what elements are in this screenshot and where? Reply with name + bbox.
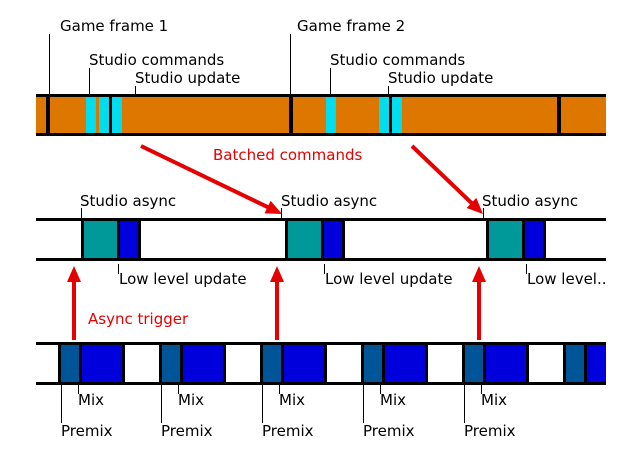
segment-premix	[566, 345, 584, 382]
leader-line-studio-update-1	[135, 86, 136, 94]
async-arrow-1-head	[67, 266, 81, 282]
segment-premix	[364, 345, 382, 382]
segment-mix	[587, 345, 606, 382]
segment-idle	[125, 345, 159, 382]
game-thread-row-track	[36, 94, 606, 136]
label-premix-1: Premix	[61, 423, 113, 439]
segment-mix	[82, 345, 122, 382]
segment-game-frame	[336, 97, 379, 133]
label-studio-update-2: Studio update	[388, 70, 493, 86]
segment-studio-update	[379, 97, 389, 133]
label-studio-async-3: Studio async	[482, 193, 578, 209]
leader-line-premix-5	[464, 385, 465, 423]
segment-idle	[345, 221, 486, 258]
segment-game-frame	[402, 97, 557, 133]
label-studio-async-1: Studio async	[80, 193, 176, 209]
label-mix-5: Mix	[481, 392, 507, 408]
segment-game-frame	[293, 97, 326, 133]
label-low-level-update-2: Low level update	[325, 271, 453, 287]
leader-line-mix-5	[481, 385, 482, 394]
async-arrow-3-head	[472, 266, 486, 282]
label-premix-3: Premix	[262, 423, 314, 439]
label-mix-4: Mix	[380, 392, 406, 408]
segment-studio-async	[288, 221, 321, 258]
segment-premix	[465, 345, 483, 382]
segment-studio-async	[84, 221, 117, 258]
label-game-frame-1: Game frame 1	[60, 18, 168, 34]
leader-line-premix-3	[262, 385, 263, 423]
label-studio-update-1: Studio update	[135, 70, 240, 86]
segment-studio-update	[99, 97, 109, 133]
label-mix-2: Mix	[178, 392, 204, 408]
segment-game-frame	[50, 97, 86, 133]
label-premix-4: Premix	[363, 423, 415, 439]
leader-line-game-frame-2	[290, 34, 291, 94]
segment-studio-update	[392, 97, 402, 133]
leader-line-mix-2	[178, 385, 179, 394]
label-low-level-update-1: Low level update	[119, 271, 247, 287]
leader-line-mix-3	[279, 385, 280, 394]
segment-studio-update	[112, 97, 122, 133]
segment-game-frame	[122, 97, 289, 133]
label-studio-commands-2: Studio commands	[330, 52, 465, 68]
label-game-frame-2: Game frame 2	[297, 18, 405, 34]
label-mix-3: Mix	[279, 392, 305, 408]
label-studio-commands-1: Studio commands	[89, 52, 224, 68]
leader-line-low-level-update-3	[526, 264, 527, 274]
leader-line-game-frame-1	[49, 34, 50, 94]
leader-line-studio-commands-1	[89, 68, 90, 94]
segment-idle	[36, 221, 81, 258]
label-premix-5: Premix	[464, 423, 516, 439]
studio-async-row-track	[36, 218, 606, 261]
leader-line-premix-1	[61, 385, 62, 423]
segment-premix	[263, 345, 281, 382]
segment-idle	[327, 345, 361, 382]
diagram-canvas: Game frame 1Studio commandsStudio update…	[0, 0, 640, 467]
segment-idle	[546, 221, 606, 258]
segment-idle	[36, 345, 58, 382]
segment-premix	[61, 345, 79, 382]
segment-idle	[529, 345, 563, 382]
batched-arrow-2-head	[467, 198, 483, 214]
leader-line-studio-async-2	[281, 208, 282, 218]
batched-arrow-2-shaft	[412, 146, 474, 206]
segment-premix	[162, 345, 180, 382]
segment-mix	[385, 345, 425, 382]
annotation-async-trigger: Async trigger	[88, 311, 188, 327]
segment-idle	[226, 345, 260, 382]
batched-arrow-1-head	[265, 201, 282, 214]
leader-line-studio-commands-2	[330, 68, 331, 94]
leader-line-premix-2	[161, 385, 162, 423]
leader-line-low-level-update-1	[118, 264, 119, 274]
label-premix-2: Premix	[161, 423, 213, 439]
segment-low-level-update	[324, 221, 342, 258]
segment-idle	[141, 221, 285, 258]
leader-line-premix-4	[363, 385, 364, 423]
segment-studio-commands	[326, 97, 336, 133]
segment-low-level-update	[525, 221, 543, 258]
leader-line-mix-4	[380, 385, 381, 394]
segment-idle	[428, 345, 462, 382]
low-level-mixer-row-track	[36, 342, 606, 385]
segment-mix	[486, 345, 526, 382]
annotation-batched-commands: Batched commands	[213, 147, 362, 163]
segment-game-frame	[36, 97, 46, 133]
async-arrow-2-head	[270, 266, 284, 282]
segment-studio-async	[489, 221, 522, 258]
segment-studio-commands	[86, 97, 96, 133]
segment-mix	[284, 345, 324, 382]
leader-line-studio-async-1	[81, 208, 82, 218]
segment-game-frame	[561, 97, 606, 133]
leader-line-mix-1	[78, 385, 79, 394]
segment-mix	[183, 345, 223, 382]
label-mix-1: Mix	[78, 392, 104, 408]
leader-line-studio-update-2	[388, 86, 389, 94]
leader-line-low-level-update-2	[324, 264, 325, 274]
leader-line-studio-async-3	[483, 208, 484, 218]
label-studio-async-2: Studio async	[281, 193, 377, 209]
segment-low-level-update	[120, 221, 138, 258]
label-low-level-update-3: Low level..	[527, 271, 607, 287]
